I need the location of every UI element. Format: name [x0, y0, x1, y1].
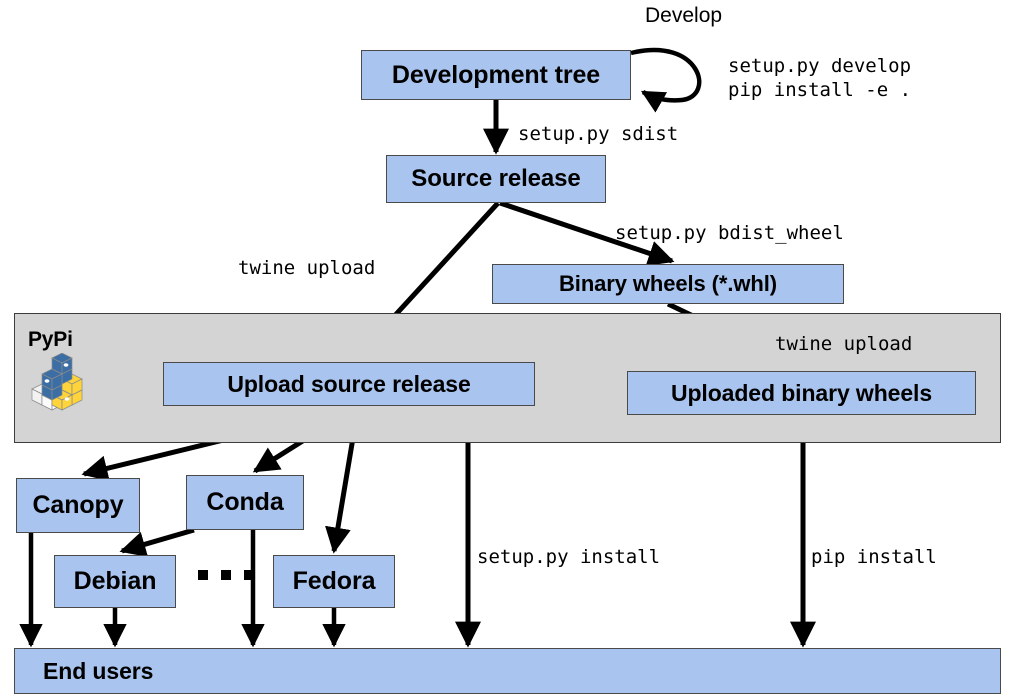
ellipsis-dot — [244, 570, 254, 580]
node-uploaded-binary-wheels[interactable]: Uploaded binary wheels — [627, 371, 976, 415]
pypi-region-label: PyPi — [28, 328, 73, 352]
label-setup-install: setup.py install — [477, 545, 660, 569]
ellipsis-dot — [221, 570, 231, 580]
label-setup-develop: setup.py develop pip install -e . — [728, 54, 911, 103]
label-develop: Develop — [645, 4, 722, 28]
node-debian[interactable]: Debian — [54, 555, 176, 608]
node-conda[interactable]: Conda — [186, 475, 304, 530]
node-canopy[interactable]: Canopy — [16, 478, 140, 533]
label-setup-sdist: setup.py sdist — [518, 122, 678, 146]
node-source-release[interactable]: Source release — [386, 155, 606, 203]
pypi-python-cubes-logo — [28, 353, 90, 411]
node-end-users[interactable]: End users — [14, 648, 1001, 694]
label-pip-install: pip install — [811, 545, 937, 569]
label-setup-bdist-wheel: setup.py bdist_wheel — [615, 221, 844, 245]
diagram-canvas: PyPi — [0, 0, 1009, 698]
label-twine-upload-source: twine upload — [238, 256, 375, 280]
ellipsis-dot — [198, 570, 208, 580]
node-upload-source-release[interactable]: Upload source release — [163, 362, 535, 406]
label-twine-upload-wheels: twine upload — [775, 332, 912, 356]
edge-conda-to-debian — [122, 530, 194, 551]
more-distros-ellipsis — [198, 570, 254, 580]
node-development-tree[interactable]: Development tree — [361, 50, 631, 100]
edge-develop-selfloop — [631, 50, 699, 100]
node-binary-wheels[interactable]: Binary wheels (*.whl) — [492, 264, 844, 304]
node-fedora[interactable]: Fedora — [273, 555, 395, 608]
